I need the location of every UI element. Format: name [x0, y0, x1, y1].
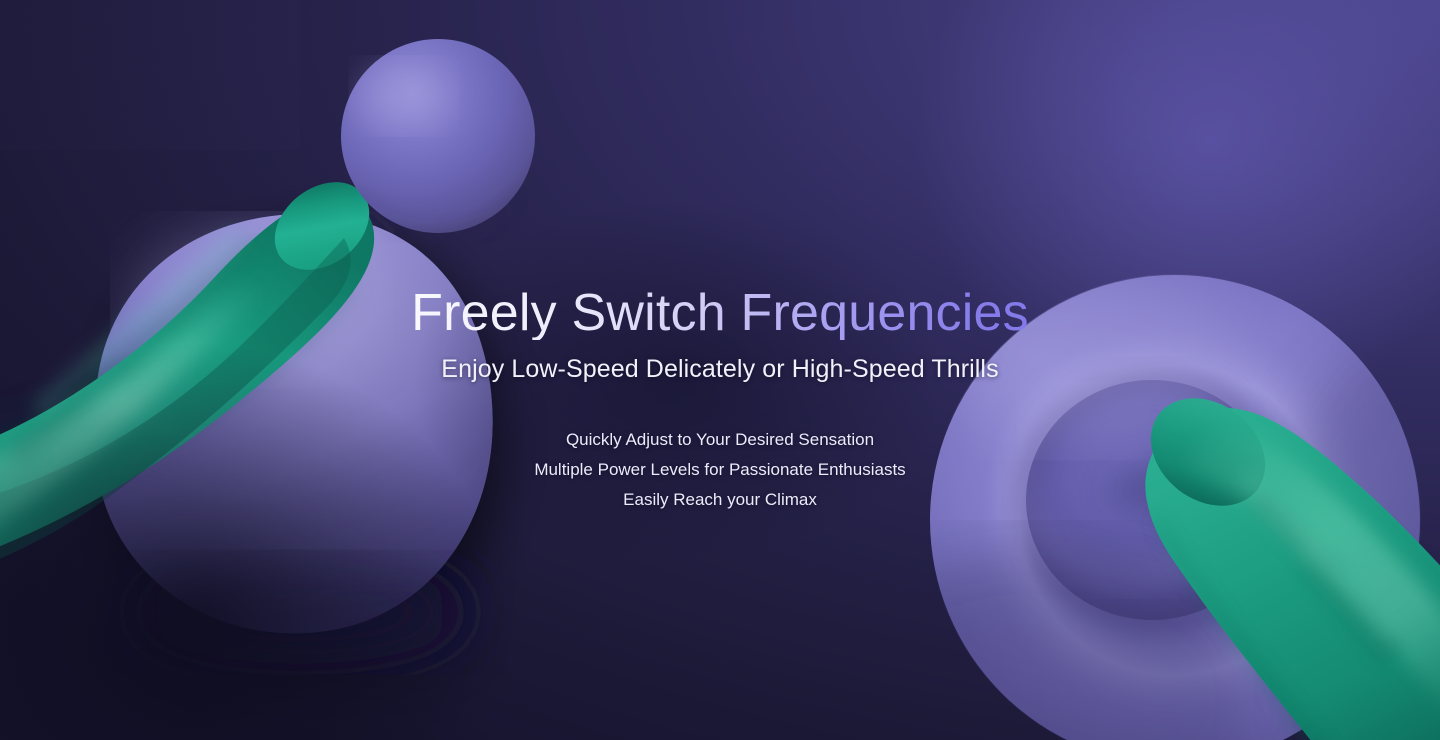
feature-list: Quickly Adjust to Your Desired Sensation…	[0, 425, 1440, 515]
feature-item-1: Quickly Adjust to Your Desired Sensation	[0, 425, 1440, 455]
purple-sphere-top	[341, 39, 535, 238]
feature-item-3: Easily Reach your Climax	[0, 485, 1440, 515]
hero-subheadline: Enjoy Low-Speed Delicately or High-Speed…	[0, 355, 1440, 384]
feature-item-2: Multiple Power Levels for Passionate Ent…	[0, 455, 1440, 485]
hero-banner: Freely Switch Frequencies Enjoy Low-Spee…	[0, 0, 1440, 740]
hero-copy: Freely Switch Frequencies Enjoy Low-Spee…	[0, 286, 1440, 515]
hero-headline: Freely Switch Frequencies	[0, 286, 1440, 340]
